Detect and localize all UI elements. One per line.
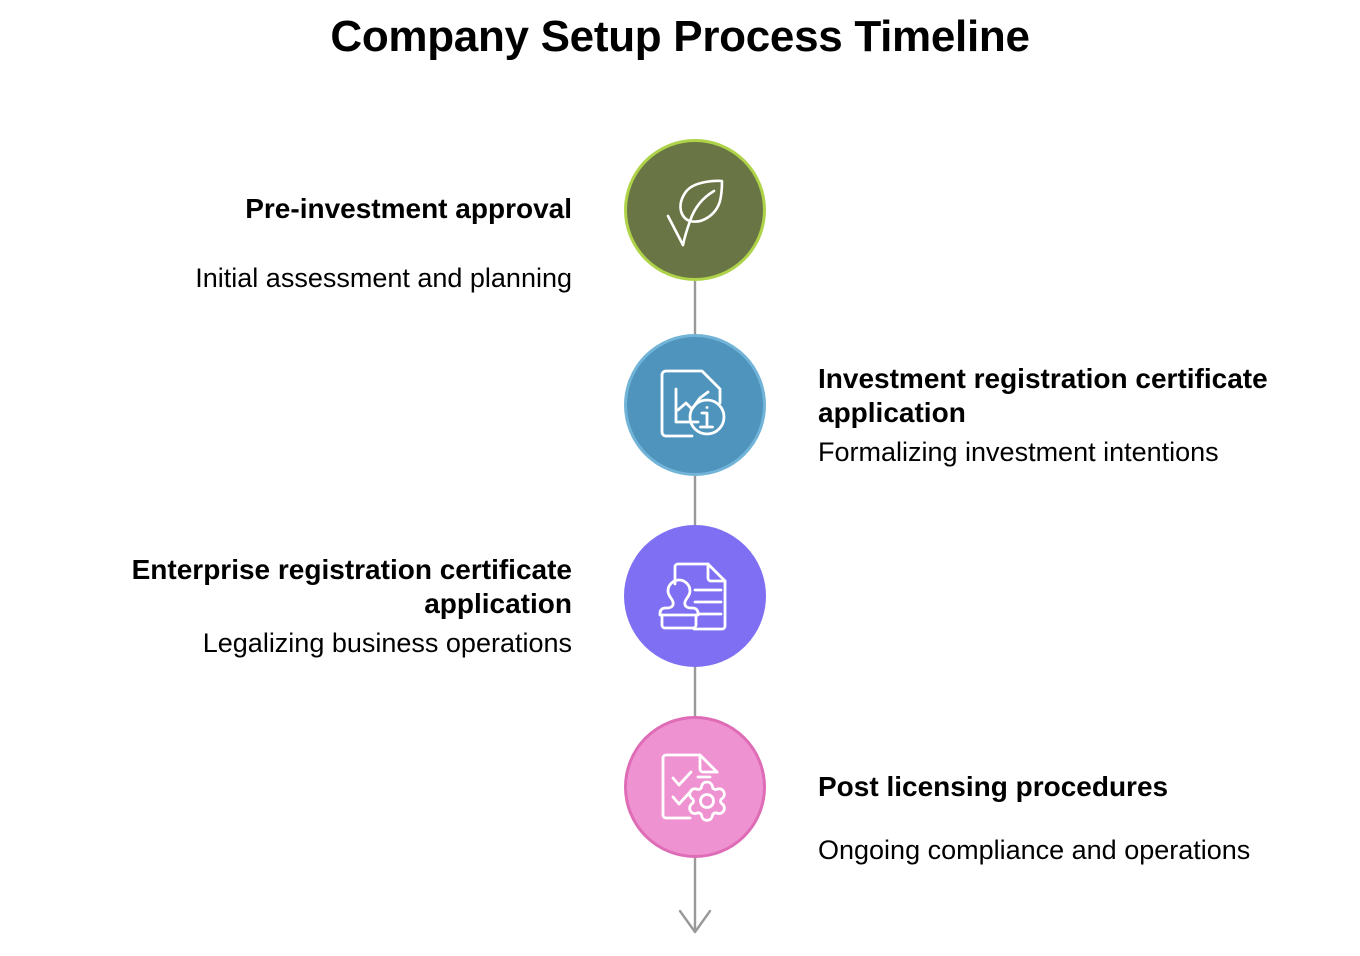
step-1-title: Pre-investment approval — [0, 192, 572, 226]
step-2-title: Investment registration certificate appl… — [818, 362, 1288, 430]
step-3-description: Legalizing business operations — [0, 625, 572, 661]
timeline-node-3[interactable] — [624, 525, 766, 667]
step-4-description: Ongoing compliance and operations — [818, 832, 1338, 868]
step-3-title: Enterprise registration certificate appl… — [0, 553, 572, 621]
timeline-node-4[interactable] — [624, 716, 766, 858]
timeline-label-2: Investment registration certificate appl… — [818, 362, 1288, 470]
document-chart-info-icon — [650, 360, 740, 450]
checklist-gear-icon — [650, 742, 740, 832]
document-stamp-icon — [649, 550, 741, 642]
timeline-node-2[interactable] — [624, 334, 766, 476]
step-1-description: Initial assessment and planning — [0, 260, 572, 296]
timeline-label-1: Pre-investment approval Initial assessme… — [0, 192, 572, 296]
timeline-label-3: Enterprise registration certificate appl… — [0, 553, 572, 661]
step-4-title: Post licensing procedures — [818, 770, 1338, 804]
arrow-down-icon — [680, 911, 710, 932]
step-2-description: Formalizing investment intentions — [818, 434, 1288, 470]
page-title: Company Setup Process Timeline — [0, 8, 1360, 66]
leaf-check-icon — [652, 167, 738, 253]
timeline-label-4: Post licensing procedures Ongoing compli… — [818, 770, 1338, 868]
timeline-node-1[interactable] — [624, 139, 766, 281]
